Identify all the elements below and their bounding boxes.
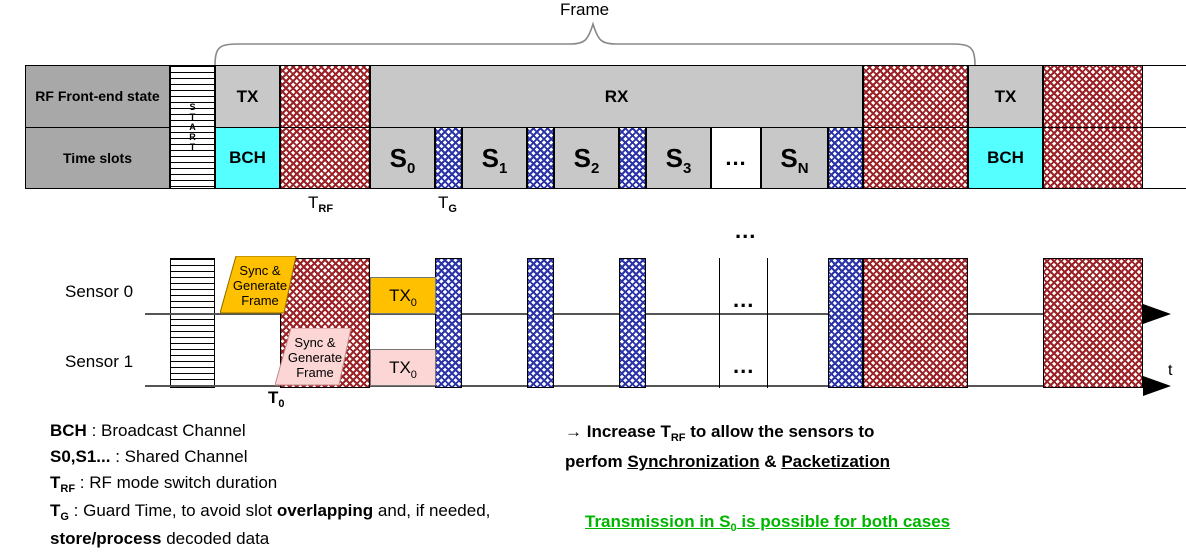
rf-switch-slot-1 [280,127,370,189]
sensor-guard-band-1 [435,258,462,388]
rf-switch-1 [280,65,370,128]
sensor-1-label: Sensor 1 [65,352,133,372]
sensor-1-tx-box: TX0 [370,349,436,386]
start-block: START [170,65,215,189]
legend-trf-desc: RF mode switch duration [89,473,277,492]
rf-switch-3 [1043,65,1143,128]
section-ellipsis: ... [735,218,756,244]
sensor-0-axis-arrow [1143,301,1175,327]
slot-ellipsis: ... [711,127,761,189]
sensor-0-tx-box: TX0 [370,277,436,314]
shared-slot-2: S2 [554,127,619,189]
shared-slot-1-label: S1 [482,143,508,174]
shared-slot-n: SN [761,127,828,189]
sensor-0-label: Sensor 0 [65,282,133,302]
guard-time-1 [435,127,462,189]
rx-cell-label: RX [605,87,629,107]
legend-bch-desc: Broadcast Channel [101,421,246,440]
bch-slot-1: BCH [215,127,280,189]
legend-shared-desc: Shared Channel [125,447,248,466]
legend-trf: TRF : RF mode switch duration [50,470,550,498]
sensor-rf-switch-band-2 [863,258,968,388]
guard-time-2 [527,127,554,189]
rx-cell: RX [370,65,863,128]
tx-cell-1-label: TX [237,87,259,107]
tx-cell-1: TX [215,65,280,128]
sensor-0-sync-label: Sync & Generate Frame [220,256,300,314]
sensor-guard-band-4 [828,258,863,388]
tx-cell-2-label: TX [995,87,1017,107]
rf-switch-slot-3 [1043,127,1143,189]
shared-slot-0: S0 [370,127,435,189]
bch-slot-2-label: BCH [987,148,1024,168]
slot-ellipsis-label: ... [725,145,746,171]
legend-shared: S0,S1... : Shared Channel [50,444,550,470]
rf-switch-2 [863,65,968,128]
frame-label: Frame [560,0,609,20]
sensor-start-block [170,258,215,388]
guard-time-3 [619,127,646,189]
note-increase-trf: → Increase TRF to allow the sensors to p… [565,418,1035,475]
sensor-separator-right [767,258,768,388]
time-slots-header-label: Time slots [63,150,132,166]
shared-slot-2-label: S2 [574,143,600,174]
time-axis-label: t [1168,362,1172,380]
timeline-bottom-rule [1143,188,1186,189]
time-slots-header: Time slots [25,127,170,189]
sensor-guard-band-3 [619,258,646,388]
legend-shared-term: S0,S1... [50,447,110,466]
shared-slot-3: S3 [646,127,711,189]
shared-slot-1: S1 [462,127,527,189]
guard-time-4 [828,127,863,189]
sensor-0-ellipsis: ... [733,287,754,313]
rf-switch-slot-2 [863,127,968,189]
legend-bch: BCH : Broadcast Channel [50,418,550,444]
timeline-top-rule [1143,65,1186,66]
note-transmission: Transmission in S0 is possible for both … [585,508,950,538]
shared-slot-3-label: S3 [666,143,692,174]
legend-block: BCH : Broadcast Channel S0,S1... : Share… [50,418,550,552]
frame-brace [210,18,980,68]
sensor-1-ellipsis: ... [733,353,754,379]
bch-slot-2: BCH [968,127,1043,189]
t-g-marker: TG [438,193,457,213]
note-line-2: perfom Synchronization & Packetization [565,448,1035,475]
bch-slot-1-label: BCH [229,148,266,168]
shared-slot-n-label: SN [780,143,808,174]
legend-tg: TG : Guard Time, to avoid slot overlappi… [50,498,550,552]
note-arrow-icon: → [565,422,582,441]
sensor-separator-left [719,258,720,388]
t-rf-marker: TRF [308,193,333,213]
shared-slot-0-label: S0 [390,143,416,174]
tx-cell-2: TX [968,65,1043,128]
note-line-1: → Increase TRF to allow the sensors to [565,418,1035,448]
sensor-guard-band-2 [527,258,554,388]
sensor-1-sync-label: Sync & Generate Frame [275,328,355,386]
sensor-rf-switch-band-3 [1043,258,1143,388]
legend-trf-term: TRF [50,473,75,492]
legend-bch-term: BCH [50,421,87,440]
sensor-0-tx-label: TX0 [389,286,417,306]
sensor-1-tx-label: TX0 [389,358,417,378]
start-block-label: START [189,102,196,152]
legend-tg-term: TG [50,501,69,520]
rf-state-header: RF Front-end state [25,65,170,128]
t-0-marker: T0 [268,388,285,408]
timeline-mid-rule [1143,127,1186,128]
rf-state-header-label: RF Front-end state [35,88,159,104]
